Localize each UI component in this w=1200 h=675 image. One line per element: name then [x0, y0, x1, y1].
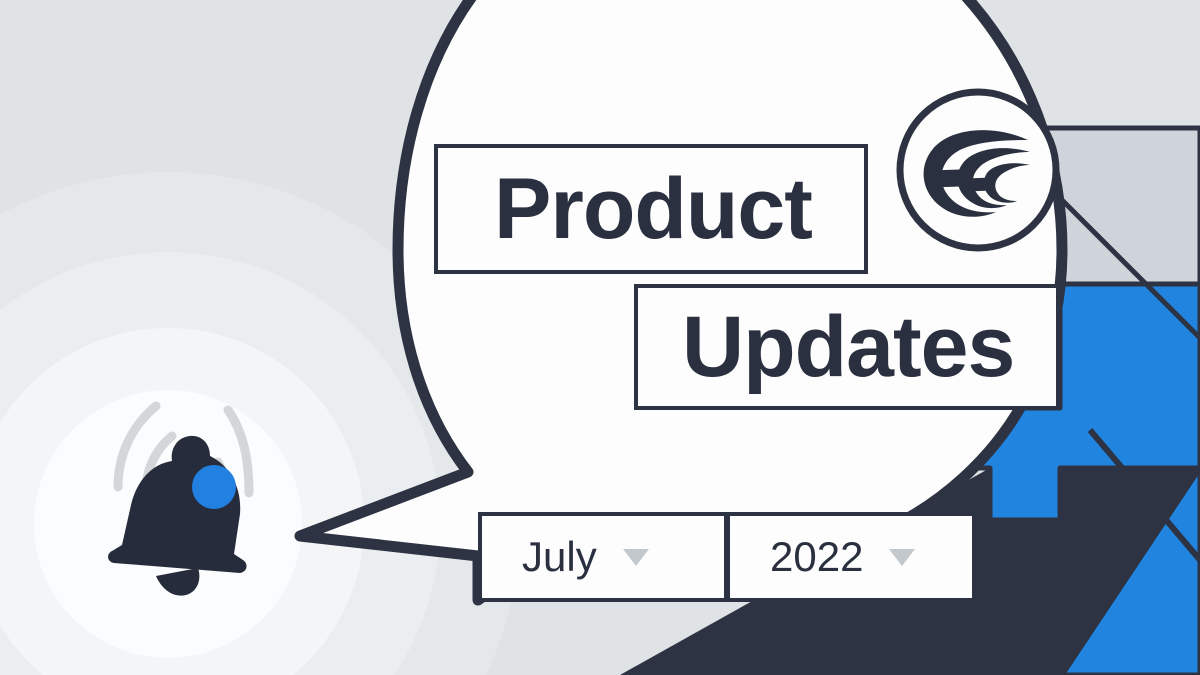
- page-title-line1: Product: [494, 166, 812, 252]
- page-title-line2: Updates: [682, 304, 1014, 390]
- year-dropdown[interactable]: 2022: [728, 512, 976, 602]
- brand-logo-icon[interactable]: [900, 92, 1056, 248]
- chevron-down-icon: [889, 549, 915, 566]
- banner-canvas: Product Updates July 2022: [0, 0, 1200, 675]
- date-selector-row: July 2022: [478, 512, 976, 602]
- month-dropdown[interactable]: July: [478, 512, 728, 602]
- brand-logo-circle: [900, 92, 1056, 248]
- title-box-product: Product: [434, 144, 868, 274]
- chevron-down-icon: [623, 549, 649, 566]
- title-box-updates: Updates: [634, 284, 1060, 410]
- month-dropdown-value: July: [522, 536, 597, 578]
- year-dropdown-value: 2022: [770, 536, 863, 578]
